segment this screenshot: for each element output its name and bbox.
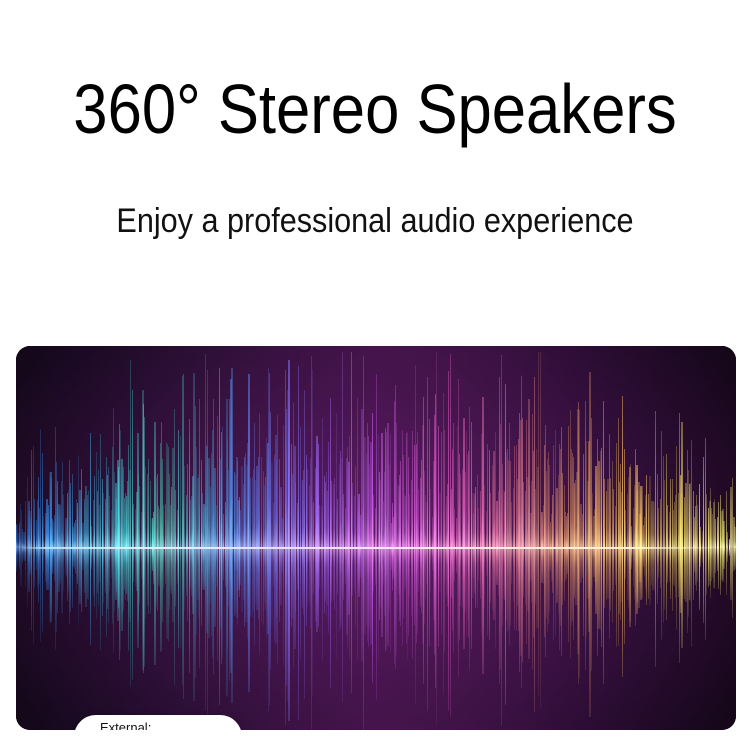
waveform-bar-mirror	[538, 548, 539, 696]
waveform-panel: External: no sound leakage Inside: Air d…	[16, 346, 736, 730]
waveform-bar-mirror	[441, 548, 442, 635]
promo-banner: 360° Stereo Speakers Enjoy a professiona…	[0, 0, 750, 750]
waveform-bar-mirror	[163, 548, 164, 589]
waveform-bar-mirror	[130, 548, 131, 687]
callout-external-line-1: External:	[96, 718, 242, 730]
waveform-bar	[163, 505, 164, 548]
waveform-bar-mirror	[676, 548, 677, 630]
waveform-bar	[130, 360, 131, 548]
waveform-bar	[490, 493, 491, 548]
waveform-bar	[735, 527, 736, 548]
waveform-bar	[676, 446, 677, 548]
waveform-bar	[318, 444, 319, 548]
page-title: 360° Stereo Speakers	[45, 66, 705, 152]
waveform-bar	[441, 432, 442, 548]
waveform-bar-mirror	[318, 548, 319, 627]
waveform-bar	[538, 352, 539, 548]
waveform-bar-mirror	[735, 548, 736, 569]
page-subtitle: Enjoy a professional audio experience	[38, 199, 713, 243]
waveform-bar-mirror	[490, 548, 491, 603]
callout-external: External: no sound leakage	[74, 715, 242, 730]
waveform-bars	[16, 346, 736, 730]
